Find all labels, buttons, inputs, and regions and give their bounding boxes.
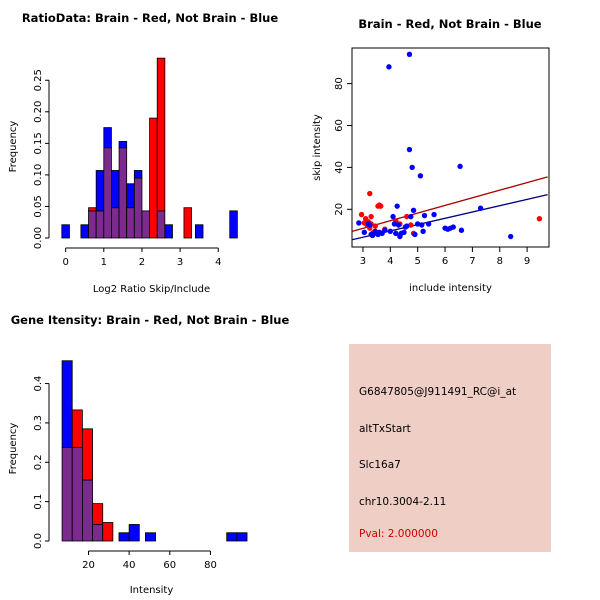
- scatter-point: [373, 223, 378, 228]
- histogram-bar-not-brain: [134, 170, 142, 178]
- scatter-point: [457, 164, 462, 169]
- y-axis-tick-label: 40: [334, 161, 345, 174]
- y-axis-tick-label: 0.05: [33, 195, 44, 217]
- scatter-point: [404, 223, 409, 228]
- gene-histogram-title: Gene Itensity: Brain - Red, Not Brain - …: [0, 313, 300, 327]
- y-axis-tick-label: 20: [334, 203, 345, 216]
- histogram-bar-brain: [72, 410, 82, 447]
- histogram-bar-overlap: [96, 211, 104, 238]
- gene-x-axis: 20406080: [82, 551, 217, 571]
- x-axis-tick-label: 3: [177, 257, 183, 268]
- scatter-point: [451, 224, 456, 229]
- plot-canvas: RatioData: Brain - Red, Not Brain - Blue…: [0, 0, 600, 600]
- scatter-point: [386, 64, 391, 69]
- scatter-point: [367, 222, 372, 227]
- y-axis-tick-label: 0.00: [33, 227, 44, 249]
- scatter-point: [408, 214, 413, 219]
- gene-y-axis: 0.00.10.20.30.4: [33, 376, 49, 549]
- histogram-bar-overlap: [142, 211, 150, 238]
- histogram-bar-not-brain: [145, 533, 155, 541]
- histogram-bar-brain: [150, 118, 158, 238]
- gene-info-box: [349, 344, 551, 552]
- x-axis-tick-label: 60: [163, 560, 176, 571]
- scatter-point: [537, 216, 542, 221]
- scatter-point: [411, 208, 416, 213]
- scatter-point: [508, 234, 513, 239]
- histogram-bar-not-brain: [81, 225, 89, 238]
- histogram-bar-not-brain: [195, 225, 203, 238]
- y-axis-tick-label: 80: [334, 77, 345, 90]
- x-axis-tick-label: 1: [101, 257, 107, 268]
- histogram-bar-not-brain: [62, 225, 70, 238]
- y-axis-tick-label: 0.10: [33, 164, 44, 186]
- histogram-bar-not-brain: [119, 533, 129, 541]
- ratio-histogram-title: RatioData: Brain - Red, Not Brain - Blue: [0, 11, 300, 25]
- histogram-bar-overlap: [157, 211, 165, 238]
- y-axis-tick-label: 0.4: [33, 376, 44, 392]
- x-axis-label: include intensity: [409, 283, 492, 294]
- x-axis-tick-label: 4: [387, 256, 393, 267]
- scatter-plot: 20406080skip intensity3456789include int…: [300, 0, 600, 300]
- histogram-bar-overlap: [134, 178, 142, 238]
- x-axis-label: Log2 Ratio Skip/Include: [93, 284, 210, 295]
- x-axis-tick-label: 6: [442, 256, 448, 267]
- gene-histogram-plot: 0.00.10.20.30.4Frequency20406080Intensit…: [0, 300, 300, 600]
- scatter-point: [367, 191, 372, 196]
- histogram-bar-brain: [93, 504, 103, 525]
- scatter-point: [362, 230, 367, 235]
- y-axis-tick-label: 0.3: [33, 415, 44, 431]
- x-axis-tick-label: 7: [469, 256, 475, 267]
- y-axis-label: Frequency: [8, 423, 19, 475]
- scatter-point: [359, 212, 364, 217]
- scatter-point: [388, 229, 393, 234]
- ratio-bars: [62, 58, 238, 238]
- x-axis-tick-label: 2: [139, 257, 145, 268]
- x-axis-tick-label: 5: [414, 256, 420, 267]
- histogram-bar-overlap: [119, 148, 127, 238]
- histogram-bar-overlap: [111, 208, 119, 238]
- y-axis-label: skip intensity: [312, 114, 323, 181]
- y-axis-tick-label: 0.2: [33, 454, 44, 470]
- scatter-point: [394, 203, 399, 208]
- histogram-bar-overlap: [82, 480, 92, 541]
- event-type-text: altTxStart: [359, 423, 411, 435]
- histogram-bar-not-brain: [237, 533, 247, 541]
- y-axis-tick-label: 0.0: [33, 533, 44, 549]
- scatter-point: [459, 228, 464, 233]
- histogram-bar-not-brain: [62, 361, 72, 448]
- y-axis-tick-label: 0.20: [33, 101, 44, 123]
- scatter-points: [356, 52, 542, 240]
- scatter-point: [420, 229, 425, 234]
- y-axis-tick-label: 60: [334, 119, 345, 132]
- scatter-x-axis: 3456789: [360, 247, 531, 267]
- scatter-point: [478, 206, 483, 211]
- histogram-bar-not-brain: [111, 170, 119, 207]
- x-axis-tick-label: 80: [204, 560, 217, 571]
- histogram-bar-not-brain: [165, 225, 173, 238]
- histogram-bar-brain: [184, 208, 192, 238]
- scatter-point: [390, 214, 395, 219]
- scatter-point: [426, 221, 431, 226]
- panel-ratio-histogram: RatioData: Brain - Red, Not Brain - Blue…: [0, 0, 300, 300]
- scatter-point: [431, 212, 436, 217]
- ratio-histogram-plot: 0.000.050.100.150.200.25Frequency01234Lo…: [0, 0, 300, 300]
- y-axis-label: Frequency: [8, 121, 19, 173]
- histogram-bar-overlap: [93, 524, 103, 541]
- histogram-bar-overlap: [89, 211, 97, 238]
- histogram-bar-overlap: [62, 447, 72, 541]
- x-axis-tick-label: 40: [123, 560, 136, 571]
- scatter-point: [407, 147, 412, 152]
- gene-bars: [62, 361, 247, 541]
- scatter-point: [396, 222, 401, 227]
- scatter-point: [409, 165, 414, 170]
- scatter-point: [356, 220, 361, 225]
- x-axis-tick-label: 8: [497, 256, 503, 267]
- histogram-bar-brain: [89, 208, 97, 211]
- scatter-point: [382, 228, 387, 233]
- scatter-point: [419, 222, 424, 227]
- histogram-bar-overlap: [72, 447, 82, 541]
- histogram-bar-overlap: [127, 208, 135, 238]
- x-axis-tick-label: 3: [360, 256, 366, 267]
- panel-gene-info: G6847805@J911491_RC@i_at altTxStart Slc1…: [300, 300, 600, 600]
- locus-text: chr10.3004-2.11: [359, 496, 446, 508]
- probe-id-text: G6847805@J911491_RC@i_at: [359, 386, 516, 398]
- scatter-y-axis: 20406080: [334, 77, 352, 215]
- scatter-title: Brain - Red, Not Brain - Blue: [300, 17, 600, 31]
- y-axis-tick-label: 0.25: [33, 69, 44, 91]
- histogram-bar-overlap: [104, 148, 112, 238]
- histogram-bar-brain: [157, 58, 165, 211]
- scatter-point: [422, 213, 427, 218]
- scatter-point: [378, 203, 383, 208]
- scatter-point: [412, 232, 417, 237]
- histogram-bar-not-brain: [227, 533, 237, 541]
- scatter-point: [418, 173, 423, 178]
- histogram-bar-brain: [103, 523, 113, 542]
- histogram-bar-not-brain: [96, 170, 104, 210]
- pval-text: Pval: 2.000000: [359, 528, 438, 540]
- x-axis-tick-label: 4: [215, 257, 221, 268]
- x-axis-label: Intensity: [130, 585, 174, 596]
- scatter-point: [368, 214, 373, 219]
- y-axis-tick-label: 0.1: [33, 494, 44, 510]
- histogram-bar-not-brain: [230, 211, 238, 238]
- ratio-x-axis: 01234: [62, 248, 221, 268]
- histogram-bar-not-brain: [119, 141, 127, 147]
- panel-intensity-scatter: Brain - Red, Not Brain - Blue 20406080sk…: [300, 0, 600, 300]
- x-axis-tick-label: 9: [524, 256, 530, 267]
- ratio-y-axis: 0.000.050.100.150.200.25: [33, 69, 49, 249]
- histogram-bar-not-brain: [104, 128, 112, 148]
- scatter-point: [401, 230, 406, 235]
- scatter-point: [407, 52, 412, 57]
- histogram-bar-not-brain: [127, 184, 135, 208]
- histogram-bar-not-brain: [129, 524, 139, 541]
- gene-symbol-text: Slc16a7: [359, 459, 401, 471]
- y-axis-tick-label: 0.15: [33, 132, 44, 154]
- x-axis-tick-label: 0: [62, 257, 68, 268]
- x-axis-tick-label: 20: [82, 560, 95, 571]
- panel-gene-histogram: Gene Itensity: Brain - Red, Not Brain - …: [0, 300, 300, 600]
- histogram-bar-brain: [82, 429, 92, 480]
